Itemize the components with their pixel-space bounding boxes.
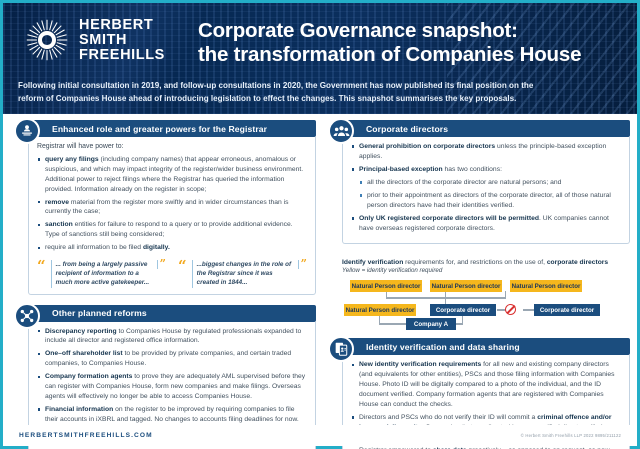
list-item: sanction entities for failure to respond… xyxy=(37,220,307,240)
diagram-caption-mid: requirements for, and restrictions on th… xyxy=(403,259,546,266)
panel-registrar: Enhanced role and greater powers for the… xyxy=(10,120,316,295)
list-item: Discrepancy reporting to Companies House… xyxy=(37,327,307,347)
panel-corporate-directors-header: Corporate directors xyxy=(342,120,630,137)
quote-2: “ ...biggest changes in the role of the … xyxy=(178,260,307,287)
list-item: General prohibition on corporate directo… xyxy=(351,142,621,162)
bullet-bold: Only UK registered corporate directors w… xyxy=(359,215,539,222)
registrar-quotes: “ ... from being a largely passive recip… xyxy=(37,258,307,287)
left-column: Enhanced role and greater powers for the… xyxy=(10,120,316,429)
panel-registrar-title: Enhanced role and greater powers for the… xyxy=(28,124,267,134)
footer-copyright: © Herbert Smith Freehills LLP 2022 9895/… xyxy=(521,433,621,438)
page-header: HERBERT SMITH FREEHILLS Corporate Govern… xyxy=(3,3,637,114)
list-item: query any filings (including company nam… xyxy=(37,155,307,194)
poster-page: HERBERT SMITH FREEHILLS Corporate Govern… xyxy=(0,0,640,449)
quote-2-end: ” xyxy=(297,260,307,269)
panel-registrar-header: Enhanced role and greater powers for the… xyxy=(28,120,316,137)
list-item: Principal-based exception has two condit… xyxy=(351,165,621,175)
list-item: require all information to be filed digi… xyxy=(37,243,307,253)
bullet-bold: Principal-based exception xyxy=(359,166,443,173)
panel-identity-verification-title: Identity verification and data sharing xyxy=(342,342,520,352)
node-corporate-director-allowed: Corporate director xyxy=(430,304,496,316)
node-natural-person-director-1: Natural Person director xyxy=(350,280,422,292)
panel-registrar-body: Registrar will have power to: query any … xyxy=(28,137,316,295)
bullet-text: entities for failure to respond to a que… xyxy=(45,221,293,238)
quote-1-text: ... from being a largely passive recipie… xyxy=(56,260,152,287)
bullet-text: material from the register more swiftly … xyxy=(45,199,288,216)
panel-corporate-directors: Corporate directors General prohibition … xyxy=(324,120,630,244)
identity-verification-diagram-block: Identify verification requirements for, … xyxy=(342,258,630,332)
connector-v2 xyxy=(505,291,506,298)
registrar-person-icon xyxy=(14,118,40,144)
logo-line-2: SMITH xyxy=(79,33,165,48)
list-item-sub: all the directors of the corporate direc… xyxy=(351,178,621,188)
bullet-bold: sanction xyxy=(45,221,73,228)
footer-website-url[interactable]: HERBERTSMITHFREEHILLS.COM xyxy=(19,432,153,439)
connector-v3 xyxy=(445,291,446,304)
list-item: Company formation agents to prove they a… xyxy=(37,372,307,402)
bullet-bold: New identity verification requirements xyxy=(359,361,481,368)
diagram-caption-lead: Identify verification xyxy=(342,259,403,266)
brand-logo: HERBERT SMITH FREEHILLS xyxy=(25,18,165,63)
node-company-a: Company A xyxy=(406,318,456,330)
panel-other-reforms-header: Other planned reforms xyxy=(28,305,316,322)
herbert-smith-freehills-logo-icon xyxy=(25,18,69,62)
page-title-line-2: the transformation of Companies House xyxy=(198,43,625,67)
bullet-text: require all information to be filed xyxy=(45,244,143,251)
quote-open-icon: “ xyxy=(178,260,187,273)
node-natural-person-director-4: Natural Person director xyxy=(344,304,416,316)
quote-close-icon: ” xyxy=(301,260,307,269)
node-corporate-director-blocked: Corporate director xyxy=(534,304,600,316)
bullet-bold: query any filings xyxy=(45,156,99,163)
diagram-caption-tail: corporate directors xyxy=(547,259,608,266)
panel-corporate-directors-title: Corporate directors xyxy=(342,124,448,134)
network-cog-glyph xyxy=(19,308,35,324)
bullet-bold: General prohibition on corporate directo… xyxy=(359,143,495,150)
quote-rule xyxy=(51,260,52,287)
id-document-glyph xyxy=(333,341,349,357)
logo-line-3: FREEHILLS xyxy=(79,48,165,63)
diagram-legend: Yellow = identity verification required xyxy=(342,267,630,274)
node-natural-person-director-2: Natural Person director xyxy=(430,280,502,292)
list-item-sub: prior to their appointment as directors … xyxy=(351,191,621,211)
quote-rule xyxy=(192,260,193,287)
network-cog-icon xyxy=(14,303,40,329)
bullet-bold: One–off shareholder list xyxy=(45,350,123,357)
quote-open-icon: “ xyxy=(37,260,46,273)
right-column: Corporate directors General prohibition … xyxy=(324,120,630,429)
quote-rule xyxy=(157,260,158,269)
content-area: Enhanced role and greater powers for the… xyxy=(3,114,637,429)
bullet-text: all the directors of the corporate direc… xyxy=(367,179,561,186)
page-title-line-1: Corporate Governance snapshot: xyxy=(198,19,625,43)
bullet-text: prior to their appointment as directors … xyxy=(367,192,611,209)
panel-corporate-directors-body: General prohibition on corporate directo… xyxy=(342,137,630,244)
bullet-bold: Discrepancy reporting xyxy=(45,328,117,335)
list-item: Financial information on the register to… xyxy=(37,405,307,425)
quote-rule xyxy=(298,260,299,269)
intro-paragraph: Following initial consultation in 2019, … xyxy=(18,80,542,105)
bullet-text: has two conditions: xyxy=(443,166,502,173)
logo-line-1: HERBERT xyxy=(79,18,165,33)
bullet-text: Directors and PSCs who do not verify the… xyxy=(359,414,537,421)
panel-identity-verification-header: Identity verification and data sharing xyxy=(342,338,630,355)
panel-other-reforms-title: Other planned reforms xyxy=(28,308,147,318)
list-item: Registrar empowered to share data proact… xyxy=(351,446,621,449)
registrar-person-glyph xyxy=(19,123,35,139)
group-people-icon xyxy=(328,118,354,144)
list-item: New identity verification requirements f… xyxy=(351,360,621,409)
list-item: One–off shareholder list to be provided … xyxy=(37,349,307,369)
bullet-bold: Financial information xyxy=(45,406,113,413)
bullet-bold-tail: digitally. xyxy=(143,244,170,251)
page-footer: HERBERTSMITHFREEHILLS.COM © Herbert Smit… xyxy=(3,425,637,446)
diagram-caption: Identify verification requirements for, … xyxy=(342,258,630,268)
group-people-glyph xyxy=(333,123,350,140)
no-entry-icon xyxy=(505,304,516,315)
quote-close-icon: ” xyxy=(160,260,166,269)
registrar-bullet-list: query any filings (including company nam… xyxy=(37,155,307,253)
registrar-lead-text: Registrar will have power to: xyxy=(37,142,307,152)
bullet-bold: Company formation agents xyxy=(45,373,132,380)
quote-2-text: ...biggest changes in the role of the Re… xyxy=(197,260,293,287)
page-title: Corporate Governance snapshot: the trans… xyxy=(198,19,625,67)
brand-logo-wordmark: HERBERT SMITH FREEHILLS xyxy=(79,18,165,63)
list-item: Only UK registered corporate directors w… xyxy=(351,214,621,234)
bullet-bold: remove xyxy=(45,199,69,206)
node-natural-person-director-3: Natural Person director xyxy=(510,280,582,292)
quote-1: “ ... from being a largely passive recip… xyxy=(37,260,166,287)
corporate-director-structure-diagram: Natural Person director Natural Person d… xyxy=(342,279,630,331)
corporate-directors-bullet-list: General prohibition on corporate directo… xyxy=(351,142,621,234)
quote-1-end: ” xyxy=(156,260,166,269)
list-item: remove material from the register more s… xyxy=(37,198,307,218)
